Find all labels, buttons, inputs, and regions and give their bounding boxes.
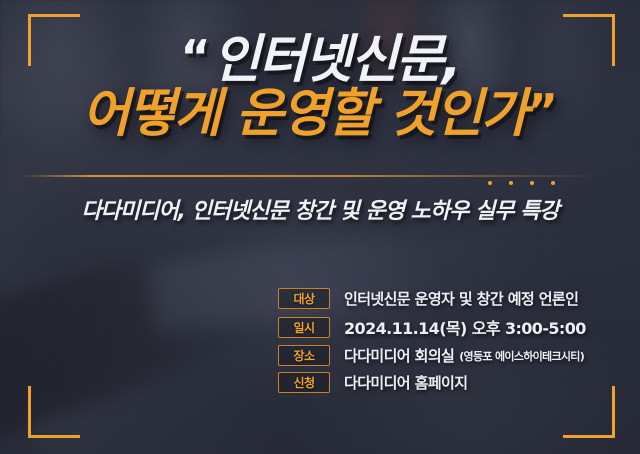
detail-label-audience: 대상 [278,288,330,309]
detail-value-venue: 다다미디어 회의실 [344,345,454,366]
headline-line-2: 어떻게 운영할 것인가” [0,88,640,140]
detail-row-audience: 대상 인터넷신문 운영자 및 창간 예정 언론인 [278,288,586,309]
detail-row-venue: 장소 다다미디어 회의실 (영등포 에이스하이테크시티) [278,345,586,366]
subtitle-text: 다다미디어, 인터넷신문 창간 및 운영 노하우 실무 특강 [81,193,558,225]
event-details-panel: 대상 인터넷신문 운영자 및 창간 예정 언론인 일시 2024.11.14(목… [278,288,586,393]
emphasis-dot [488,181,492,185]
detail-value-audience: 인터넷신문 운영자 및 창간 예정 언론인 [344,288,578,309]
subtitle-block: 다다미디어, 인터넷신문 창간 및 운영 노하우 실무 특강 [0,193,640,225]
headline-line-1-text: 인터넷신문, [213,30,460,90]
detail-value-datetime: 2024.11.14(목) 오후 3:00-5:00 [344,315,586,339]
corner-bracket-bottom-left-icon [28,386,80,438]
headline-underline [20,175,600,177]
emphasis-dot [530,181,534,185]
quote-close-icon: ” [528,84,558,138]
quote-open-icon: “ [180,30,210,84]
emphasis-dot [551,181,555,185]
emphasis-dot [509,181,513,185]
headline-line-1: “인터넷신문, [0,34,640,86]
subtitle-emphasis-dots [488,181,555,185]
headline-line-2-text: 어떻게 운영할 것인가 [82,84,527,144]
detail-row-registration: 신청 다다미디어 홈페이지 [278,372,586,393]
detail-value-registration: 다다미디어 홈페이지 [344,372,467,393]
detail-label-registration: 신청 [278,372,330,393]
corner-bracket-bottom-right-icon [563,386,615,438]
headline-block: “인터넷신문, 어떻게 운영할 것인가” [0,34,640,140]
event-poster: “인터넷신문, 어떻게 운영할 것인가” 다다미디어, 인터넷신문 창간 및 운… [0,0,640,454]
detail-row-datetime: 일시 2024.11.14(목) 오후 3:00-5:00 [278,315,586,339]
detail-label-datetime: 일시 [278,317,330,338]
detail-note-venue: (영등포 에이스하이테크시티) [459,348,584,364]
detail-label-venue: 장소 [278,345,330,366]
